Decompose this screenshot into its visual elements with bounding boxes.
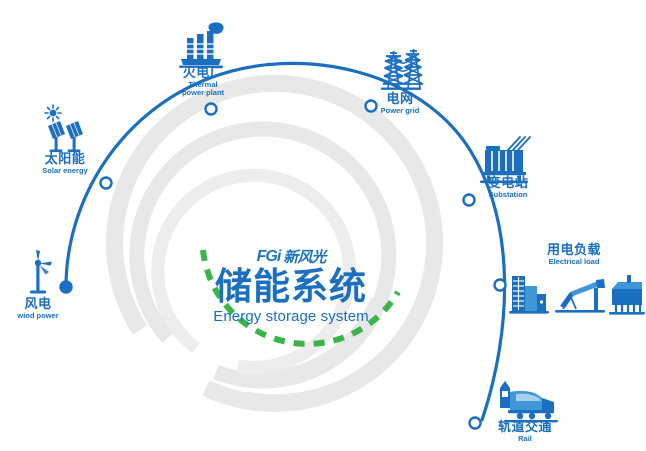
arc-node-rail-transit [470, 418, 481, 429]
label-electrical-load-cn: 用电负载 [531, 243, 617, 257]
brand-logo: FGi 新风光 [196, 248, 386, 266]
logo-company-cn: 新风光 [283, 250, 325, 265]
label-power-grid: 电网 Power grid [366, 92, 434, 115]
arc-node-thermal-plant [206, 104, 217, 115]
label-solar-energy: 太阳能 Solar energy [26, 152, 104, 175]
transmission-tower-icon [372, 46, 428, 92]
arc-node-solar-energy [101, 178, 112, 189]
label-thermal-plant: 火电厂 Thermal power plant [163, 66, 243, 96]
arc-node-substation [464, 195, 475, 206]
diagram-canvas: 风电 wind power 太阳能 Solar energy 火电厂 Therm… [0, 0, 646, 451]
label-thermal-plant-cn: 火电厂 [163, 66, 243, 80]
label-electrical-load-en: Electrical load [531, 258, 617, 266]
label-substation-en: Substation [477, 191, 539, 199]
label-electrical-load: 用电负载 Electrical load [531, 243, 617, 266]
label-substation: 变电站 Substation [477, 176, 539, 199]
label-solar-energy-cn: 太阳能 [26, 152, 104, 166]
wind-turbine-icon [18, 248, 58, 294]
page-title-en: Energy storage system [196, 308, 386, 325]
label-substation-cn: 变电站 [477, 176, 539, 190]
label-power-grid-en: Power grid [366, 107, 434, 115]
thermal-plant-icon [176, 18, 230, 68]
label-power-grid-cn: 电网 [366, 92, 434, 106]
label-solar-energy-en: Solar energy [26, 167, 104, 175]
label-wind-power-cn: 风电 [6, 297, 70, 311]
label-thermal-plant-en-line2: power plant [163, 89, 243, 97]
label-rail-transit-en: Rail [484, 435, 566, 443]
label-rail-transit-cn: 轨道交通 [484, 420, 566, 434]
train-icon [494, 378, 560, 424]
arc-node-wind-power [61, 282, 72, 293]
label-wind-power-en: wind power [6, 312, 70, 320]
arc-node-electrical-load [495, 280, 506, 291]
center-title-block: FGi 新风光 储能系统 Energy storage system [196, 248, 386, 325]
page-title-cn: 储能系统 [196, 268, 386, 307]
logo-mark-text: FGi [257, 249, 281, 265]
label-wind-power: 风电 wind power [6, 297, 70, 320]
load-group-icon [508, 272, 646, 316]
label-rail-transit: 轨道交通 Rail [484, 420, 566, 443]
solar-panel-icon [38, 104, 92, 154]
